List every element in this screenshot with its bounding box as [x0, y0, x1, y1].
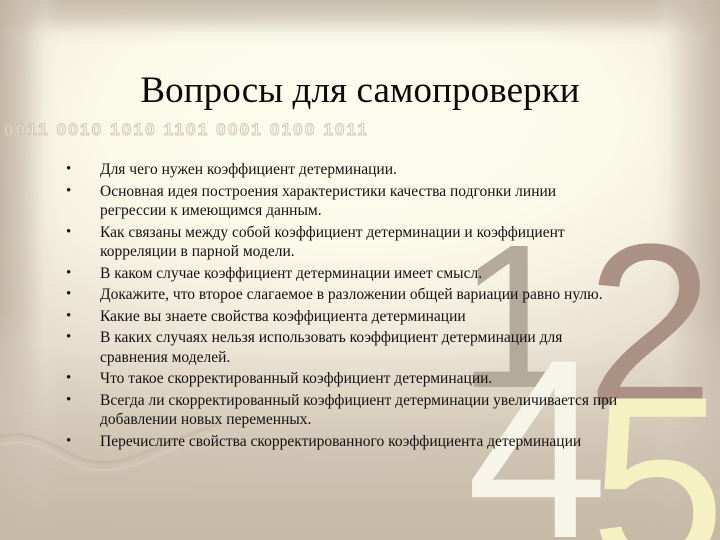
bullet-point-icon: • — [60, 369, 100, 389]
bullet-point-icon: • — [60, 264, 100, 284]
list-item: • Докажите, что второе слагаемое в разло… — [60, 285, 620, 305]
bullet-point-icon: • — [60, 391, 100, 411]
bullet-point-icon: • — [60, 160, 100, 180]
list-item: • Основная идея построения характеристик… — [60, 182, 620, 221]
list-item: • Всегда ли скорректированный коэффициен… — [60, 391, 620, 430]
list-item: • Что такое скорректированный коэффициен… — [60, 369, 620, 389]
bullet-point-icon: • — [60, 223, 100, 243]
presentation-slide: 1 2 4 5 Вопросы для самопроверки 0011 00… — [0, 0, 720, 540]
bullet-point-icon: • — [60, 328, 100, 348]
list-item-text: Докажите, что второе слагаемое в разложе… — [100, 285, 620, 305]
list-item: • В каком случае коэффициент детерминаци… — [60, 264, 620, 284]
bullet-point-icon: • — [60, 432, 100, 452]
list-item-text: В каких случаях нельзя использовать коэф… — [100, 328, 620, 367]
list-item: • Перечислите свойства скорректированног… — [60, 432, 620, 452]
list-item-text: В каком случае коэффициент детерминации … — [100, 264, 620, 284]
list-item: • В каких случаях нельзя использовать ко… — [60, 328, 620, 367]
list-item-text: Для чего нужен коэффициент детерминации. — [100, 160, 620, 180]
list-item: • Для чего нужен коэффициент детерминаци… — [60, 160, 620, 180]
list-item: • Как связаны между собой коэффициент де… — [60, 223, 620, 262]
list-item-text: Что такое скорректированный коэффициент … — [100, 369, 620, 389]
bullet-list: • Для чего нужен коэффициент детерминаци… — [60, 160, 620, 453]
list-item-text: Как связаны между собой коэффициент дете… — [100, 223, 620, 262]
list-item-text: Всегда ли скорректированный коэффициент … — [100, 391, 620, 430]
bullet-point-icon: • — [60, 307, 100, 327]
bullet-point-icon: • — [60, 182, 100, 202]
bullet-point-icon: • — [60, 285, 100, 305]
list-item: • Какие вы знаете свойства коэффициента … — [60, 307, 620, 327]
list-item-text: Основная идея построения характеристики … — [100, 182, 620, 221]
binary-decoration-text: 0011 0010 1010 1101 0001 0100 1011 — [4, 120, 369, 140]
list-item-text: Какие вы знаете свойства коэффициента де… — [100, 307, 620, 327]
list-item-text: Перечислите свойства скорректированного … — [100, 432, 620, 452]
slide-title: Вопросы для самопроверки — [40, 72, 680, 111]
background-top-vignette — [0, 0, 720, 46]
